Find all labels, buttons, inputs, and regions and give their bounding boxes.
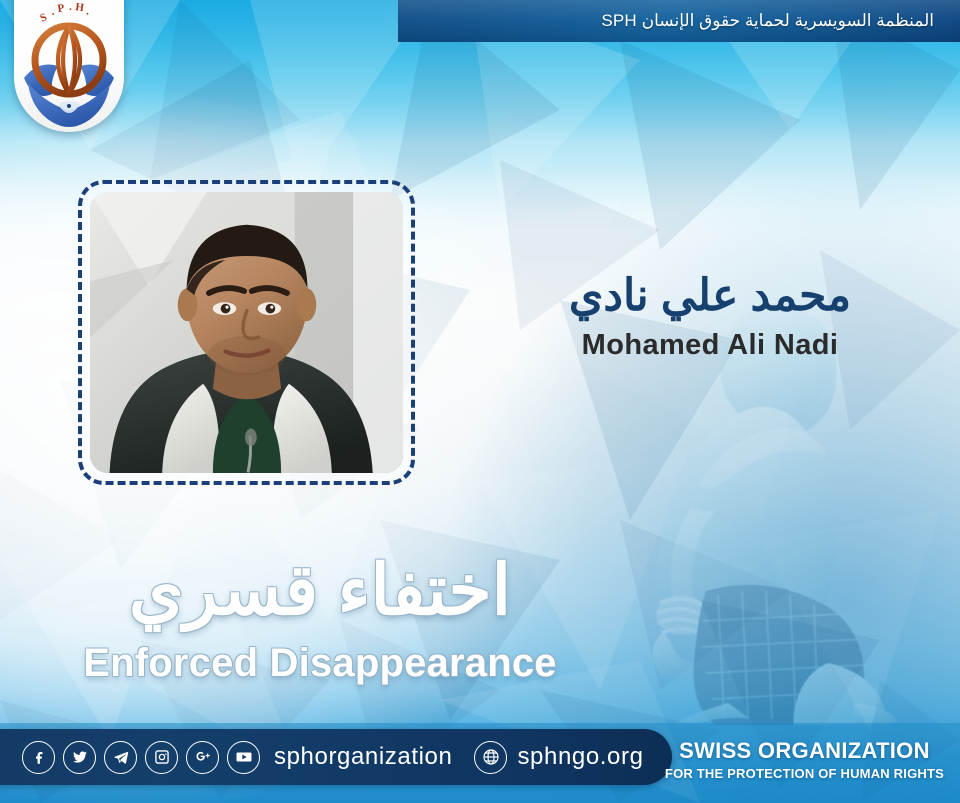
footer-band: sphorganization sphngo.org SWISS ORGANIZ… — [0, 723, 960, 803]
svg-text:.: . — [85, 5, 92, 17]
youtube-icon[interactable] — [227, 741, 260, 774]
poster-title-block: اختفاء قسري Enforced Disappearance — [0, 552, 640, 686]
svg-text:.: . — [50, 6, 56, 18]
victim-name-block: محمد علي نادي Mohamed Ali Nadi — [520, 268, 900, 362]
facebook-icon[interactable] — [22, 741, 55, 774]
website-group[interactable]: sphngo.org — [474, 741, 643, 774]
poster-canvas: المنظمة السويسرية لحماية حقوق الإنسان SP… — [0, 0, 960, 803]
svg-text:P: P — [57, 2, 66, 15]
organization-name-english: SWISS ORGANIZATION — [665, 738, 944, 764]
poster-title-english: Enforced Disappearance — [0, 641, 640, 686]
victim-name-english: Mohamed Ali Nadi — [520, 329, 900, 362]
google-plus-icon[interactable] — [186, 741, 219, 774]
organization-signature: SWISS ORGANIZATION FOR THE PROTECTION OF… — [665, 738, 944, 781]
sph-logo: S . P . H . — [14, 0, 124, 132]
social-handle-label[interactable]: sphorganization — [274, 743, 452, 771]
poster-title-arabic: اختفاء قسري — [0, 552, 640, 629]
twitter-icon[interactable] — [63, 741, 96, 774]
globe-icon — [474, 741, 507, 774]
footer-social-bar: sphorganization sphngo.org — [0, 729, 672, 785]
victim-name-arabic: محمد علي نادي — [520, 268, 900, 323]
victim-photo-frame — [78, 180, 415, 485]
svg-text:H: H — [75, 1, 86, 14]
svg-text:.: . — [69, 1, 72, 13]
header-bar: المنظمة السويسرية لحماية حقوق الإنسان SP… — [398, 0, 960, 42]
organization-subtitle-english: FOR THE PROTECTION OF HUMAN RIGHTS — [665, 766, 944, 781]
telegram-icon[interactable] — [104, 741, 137, 774]
instagram-icon[interactable] — [145, 741, 178, 774]
victim-photo — [90, 192, 403, 473]
svg-text:S: S — [38, 11, 48, 24]
organization-title-arabic: المنظمة السويسرية لحماية حقوق الإنسان SP… — [601, 11, 934, 31]
social-icon-group — [22, 741, 260, 774]
website-url-label[interactable]: sphngo.org — [517, 743, 643, 771]
